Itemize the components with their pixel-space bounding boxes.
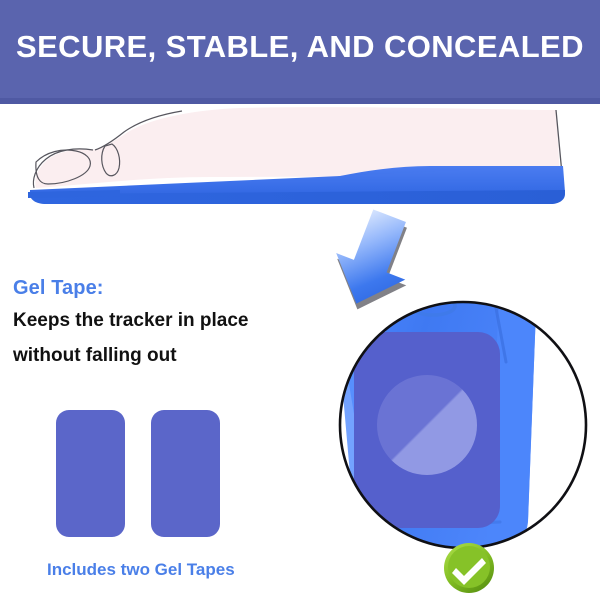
includes-caption: Includes two Gel Tapes	[47, 560, 235, 580]
gel-tape-swatch-left	[56, 410, 125, 537]
foot-on-insole-illustration	[0, 104, 600, 214]
badge-inner-ring	[448, 546, 490, 588]
page-title: SECURE, STABLE, AND CONCEALED	[16, 28, 600, 66]
description-line-1: Keeps the tracker in place	[13, 310, 249, 332]
tracker-disc	[377, 375, 477, 475]
header-banner: SECURE, STABLE, AND CONCEALED	[0, 0, 600, 104]
description-line-2: without falling out	[13, 345, 177, 367]
gel-tape-swatch-right	[151, 410, 220, 537]
approved-check-badge	[443, 542, 495, 594]
gel-tape-heading: Gel Tape:	[13, 277, 104, 300]
poster-canvas: SECURE, STABLE, AND CONCEALED	[0, 0, 600, 600]
